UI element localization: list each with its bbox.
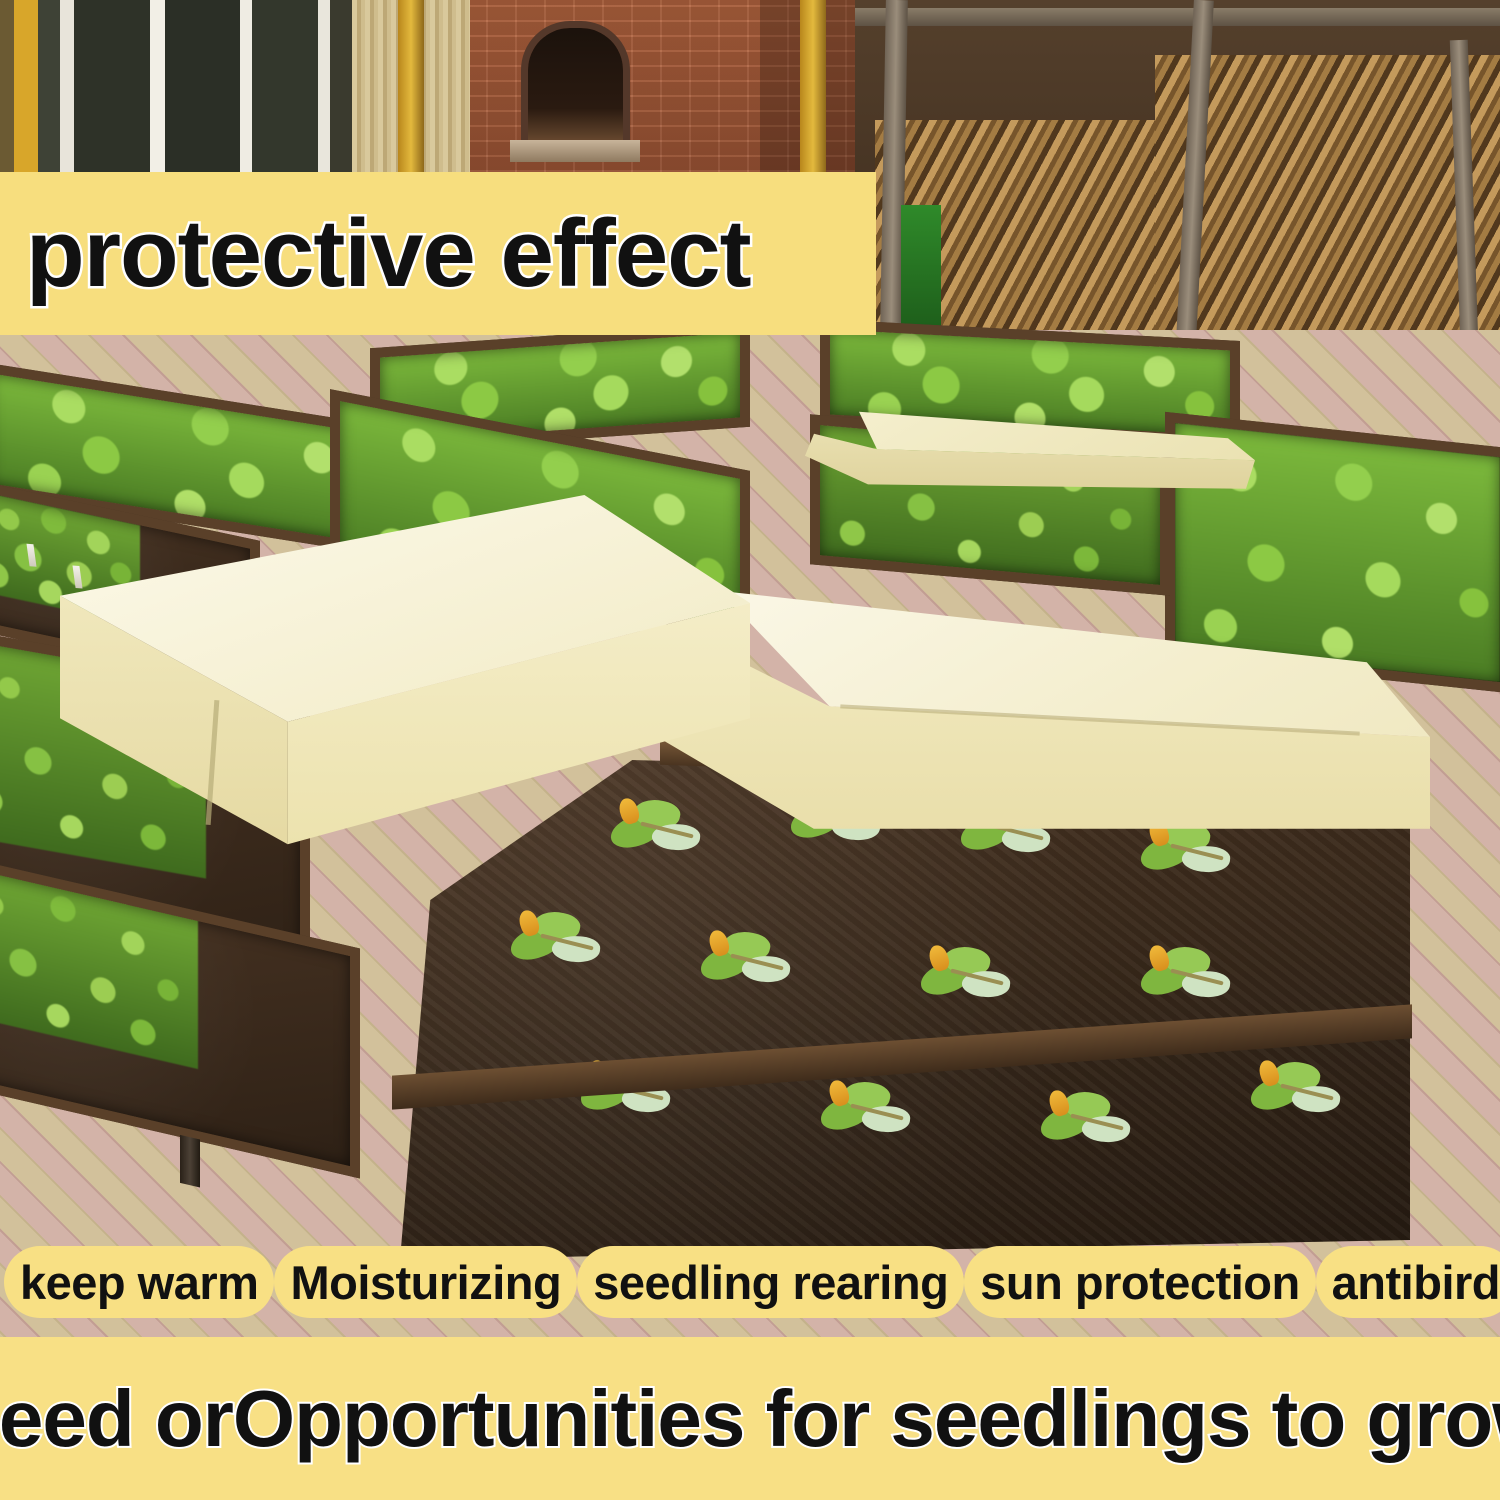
oven-ledge xyxy=(510,140,640,162)
squash-seedling xyxy=(1250,1060,1346,1130)
yellow-post-left xyxy=(398,0,424,200)
bed-corner-post xyxy=(180,1135,200,1188)
squash-seedling xyxy=(1040,1090,1136,1160)
green-tool xyxy=(901,205,941,335)
feature-pill-antibird[interactable]: antibird xyxy=(1316,1246,1500,1318)
yellow-post-right xyxy=(800,0,826,200)
footer-tagline: Seed orOpportunities for seedlings to gr… xyxy=(0,1373,1500,1465)
brick-oven-opening xyxy=(528,28,623,143)
feature-pill-keep-warm[interactable]: keep warm xyxy=(4,1246,274,1318)
feature-pill-seedling-rearing[interactable]: seedling rearing xyxy=(577,1246,964,1318)
bed-cover-front-left xyxy=(60,495,750,855)
woodshed xyxy=(855,0,1500,340)
title-banner: protective effect xyxy=(0,172,876,335)
squash-seedling xyxy=(1140,945,1236,1015)
squash-seedling xyxy=(700,930,796,1000)
feature-pill-sun-protection[interactable]: sun protection xyxy=(964,1246,1315,1318)
product-marketing-image: protective effect keep warm Moisturizing… xyxy=(0,0,1500,1500)
bed-cover-background xyxy=(805,392,1255,502)
bed-cover-mid-right xyxy=(640,550,1430,890)
feature-pill-row: keep warm Moisturizing seedling rearing … xyxy=(0,1244,1500,1320)
squash-seedling xyxy=(510,910,606,980)
page-title: protective effect xyxy=(26,199,751,309)
feature-pill-moisturizing[interactable]: Moisturizing xyxy=(274,1246,577,1318)
shed-rail-top xyxy=(855,8,1500,26)
squash-seedling xyxy=(820,1080,916,1150)
footer-banner: Seed orOpportunities for seedlings to gr… xyxy=(0,1337,1500,1500)
squash-seedling xyxy=(920,945,1016,1015)
